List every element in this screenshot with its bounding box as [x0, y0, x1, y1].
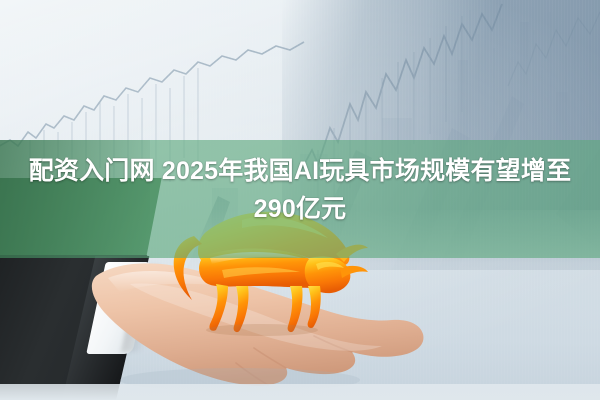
bull-contact-shadow — [206, 324, 318, 336]
news-thumbnail: 配资入门网 2025年我国AI玩具市场规模有望增至290亿元 — [0, 0, 600, 400]
bull-horn-lower — [340, 266, 368, 278]
page-title: 配资入门网 2025年我国AI玩具市场规模有望增至290亿元 — [0, 152, 600, 228]
bottom-strip — [0, 384, 600, 400]
